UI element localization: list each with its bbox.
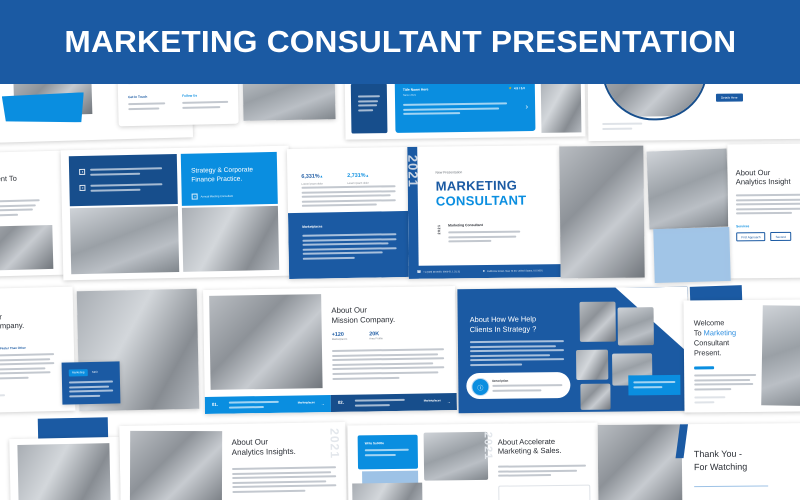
testimonial-photo	[541, 76, 582, 133]
testimonial-subtitle: Name 2021	[403, 94, 416, 97]
slide-contact-shape	[2, 92, 85, 124]
testimonial-rating: 4.5 / 5.0	[514, 86, 525, 90]
strategy-bullet-label: Annual Meeting Consultant	[201, 194, 233, 198]
cover-caption-title: Marketing Consultant	[448, 223, 483, 227]
details-here-button[interactable]: Details Here	[716, 94, 743, 102]
info-badge-icon: ⓘ	[471, 378, 489, 396]
cover-side-year: 2021	[407, 155, 420, 188]
slide-mission-company[interactable]: About Our Mission Company. +120 Marketpl…	[203, 286, 457, 414]
phone-icon: ☎	[417, 270, 422, 274]
slide-bottom-left-photo[interactable]	[9, 437, 120, 500]
services-label: Services	[736, 224, 749, 228]
marketplace-panel: Marketplaces	[288, 211, 411, 279]
get-in-touch-label: Get In Touch	[128, 95, 147, 99]
testimonial-title: Title Name Here	[403, 88, 429, 92]
mission-stat-2-label: Area Profile	[369, 337, 383, 341]
stat-1-value: 6,331%	[301, 174, 319, 180]
mission-footer-1-link[interactable]: Marketplaces	[298, 401, 315, 404]
mission-footer-1-number: 01.	[212, 402, 218, 407]
slide-photo-two-people[interactable]	[647, 148, 730, 229]
vision-chip-card[interactable]: Marketing SEO	[62, 361, 121, 404]
arrow-right-icon[interactable]: →	[447, 399, 451, 404]
strategy-bullet-panel	[69, 154, 178, 206]
mission-footer-2-link[interactable]: Marketplaces	[424, 399, 441, 402]
slide-analytics-insights-bottom[interactable]: 2021 About Our Analytics Insights.	[119, 422, 346, 500]
marketplace-label: Marketplaces	[302, 224, 322, 228]
mission-footer-item-2[interactable]: 02. Marketplaces →	[331, 393, 457, 412]
follow-us-label[interactable]: Follow Us	[182, 94, 197, 98]
cover-address: California Street, New St 30, United Sta…	[487, 269, 543, 273]
description-card-title: Description	[492, 379, 508, 383]
chevron-right-icon[interactable]: ›	[525, 103, 528, 111]
analytics-bottom-year: 2021	[327, 428, 342, 459]
mission-footer-item-1[interactable]: 01. Marketplaces →	[205, 395, 331, 414]
star-icon: ★	[508, 85, 512, 90]
play-bullet-icon	[192, 194, 198, 200]
location-pin-icon: ●	[483, 269, 485, 273]
arrow-right-icon[interactable]: →	[321, 401, 325, 406]
thank-you-title: Thank You - For Watching	[694, 448, 747, 474]
cover-title-1: MARKETING	[436, 178, 518, 194]
mission-footer-2-number: 02.	[338, 400, 344, 405]
testimonial-side-panel	[351, 83, 388, 133]
chip-marketing[interactable]: Marketing	[69, 369, 88, 376]
slide-cover[interactable]: 2021 New Presentation MARKETING CONSULTA…	[407, 145, 561, 279]
cover-eyebrow: New Presentation	[435, 170, 462, 174]
mission-title: About Our Mission Company.	[331, 305, 395, 325]
clients-strategy-title: About How We Help Clients In Strategy ?	[470, 314, 537, 335]
cover-title-2: CONSULTANT	[436, 192, 527, 208]
welcome-title: Welcome To Marketing Consultant Present.	[694, 318, 737, 358]
slide-stats-marketplace[interactable]: 6,331%▲ Lorem ipsum dolor 2,731%▲ Lorem …	[287, 147, 411, 279]
stat-2-value: 2,731%	[347, 173, 365, 179]
cover-phone: +1 (029) 38 0000, 0000 01 1 31 31	[423, 270, 460, 273]
testimonial-card[interactable]: Title Name Here Name 2021 ★ 4.5 / 5.0 ›	[395, 79, 536, 133]
strategy-title: Strategy & Corporate Finance Practice.	[191, 166, 253, 185]
slide-analytics-insight[interactable]: About Our Analytics Insight Services Fir…	[727, 144, 800, 279]
analytics-insight-title: About Our Analytics Insight	[736, 168, 791, 187]
header-banner: MARKETING CONSULTANT PRESENTATION	[0, 0, 800, 84]
page-title: MARKETING CONSULTANT PRESENTATION	[64, 24, 736, 60]
description-card[interactable]: ⓘ Description	[466, 372, 570, 399]
strategy-title-panel: Strategy & Corporate Finance Practice. A…	[181, 152, 278, 206]
slide-photo-woman-phone[interactable]	[559, 146, 644, 279]
cover-year-badge: 2021	[437, 225, 441, 235]
slide-welcome[interactable]: Welcome To Marketing Consultant Present.	[684, 299, 800, 412]
play-bullet-icon	[79, 185, 85, 191]
slide-accelerate-marketing[interactable]: Write Subtitle About Accelerate Marketin…	[347, 422, 598, 500]
analytics-insights-title: About Our Analytics Insights.	[231, 437, 295, 458]
tab-first-approach[interactable]: First Approach	[736, 232, 765, 241]
slide-clients-strategy[interactable]: About How We Help Clients In Strategy ? …	[457, 287, 688, 413]
diversity-title: Commitment To Diversity	[0, 174, 17, 194]
accelerate-title: About Accelerate Marketing & Sales.	[498, 437, 562, 457]
play-bullet-icon	[79, 169, 85, 175]
write-subtitle-card[interactable]: Write Subtitle	[358, 435, 418, 470]
tab-second[interactable]: Second	[771, 232, 791, 241]
slide-commitment-diversity[interactable]: Commitment To Diversity	[0, 151, 65, 278]
slide-photo-tinted[interactable]	[653, 227, 730, 283]
mission-stat-1-label: Marketplaces	[332, 338, 347, 342]
welcome-accent-word: Marketing	[704, 328, 737, 337]
preview-canvas: MARKETING CONSULTANT PRESENTATION Get In…	[0, 0, 800, 500]
chip-seo[interactable]: SEO	[92, 369, 98, 376]
vision-title: About Our Vision Company.	[0, 312, 24, 332]
vision-subtitle: Thinking For Growing Faster Than Other	[0, 346, 26, 351]
slide-strategy-finance[interactable]: Strategy & Corporate Finance Practice. A…	[61, 146, 292, 281]
cover-footer-bar: ☎ +1 (029) 38 0000, 0000 01 1 31 31 ● Ca…	[409, 264, 561, 279]
clients-strategy-tag[interactable]	[628, 375, 680, 396]
write-subtitle-title: Write Subtitle	[365, 441, 384, 445]
accelerate-year: 2021	[482, 432, 494, 461]
slide-thank-you[interactable]: Thank You - For Watching	[598, 423, 800, 500]
